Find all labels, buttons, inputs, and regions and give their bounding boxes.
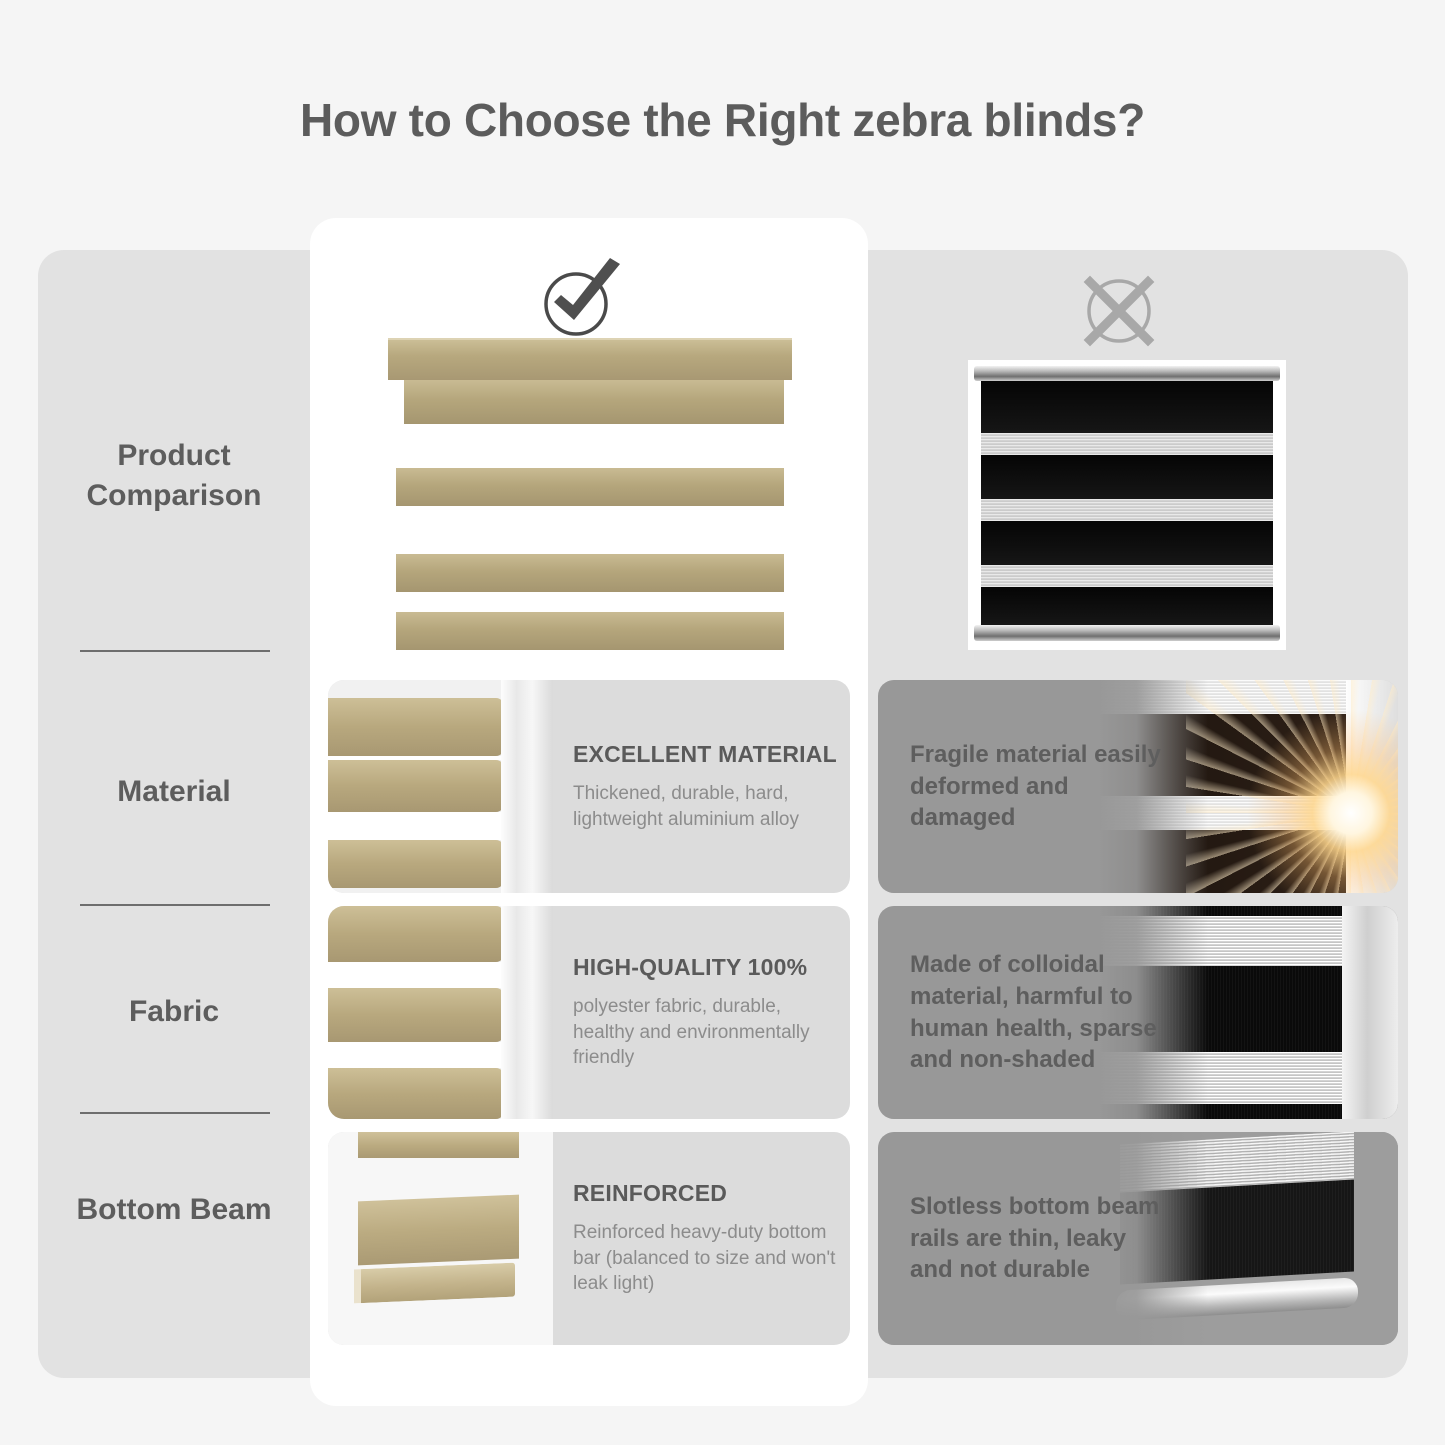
beige-zebra-blind-product-image (388, 338, 792, 668)
row-label-material: Material (38, 772, 310, 812)
good-column: EXCELLENT MATERIAL Thickened, durable, h… (310, 218, 868, 1406)
page-title: How to Choose the Right zebra blinds? (0, 93, 1445, 147)
black-zebra-blind-product-image (968, 360, 1286, 650)
row-label-bottom-beam: Bottom Beam (38, 1190, 310, 1230)
feature-card-fabric: HIGH-QUALITY 100% polyester fabric, dura… (328, 906, 850, 1119)
row-divider (80, 650, 270, 652)
check-circle-icon (538, 256, 628, 342)
feature-heading: REINFORCED (573, 1180, 843, 1207)
row-divider (80, 1112, 270, 1114)
feature-heading: EXCELLENT MATERIAL (573, 741, 843, 768)
feature-body: Reinforced heavy-duty bottom bar (balanc… (573, 1220, 843, 1297)
row-divider (80, 904, 270, 906)
row-label-product-comparison: Product Comparison (38, 436, 310, 516)
feature-card-bottom-beam: REINFORCED Reinforced heavy-duty bottom … (328, 1132, 850, 1345)
beige-blind-bottom-beam-closeup-image (328, 1132, 553, 1345)
feature-body: polyester fabric, durable, healthy and e… (573, 994, 843, 1071)
row-label-column: Product Comparison Material Fabric Botto… (38, 250, 310, 1378)
feature-heading: HIGH-QUALITY 100% (573, 954, 843, 981)
drawback-card-fabric: Made of colloidal material, harmful to h… (878, 906, 1398, 1119)
drawback-card-material: Fragile material easily deformed and dam… (878, 680, 1398, 893)
bad-column: Fragile material easily deformed and dam… (868, 250, 1408, 1378)
row-label-fabric: Fabric (38, 992, 310, 1032)
feature-card-material: EXCELLENT MATERIAL Thickened, durable, h… (328, 680, 850, 893)
drawback-card-bottom-beam: Slotless bottom beam rails are thin, lea… (878, 1132, 1398, 1345)
feature-body: Thickened, durable, hard, lightweight al… (573, 781, 843, 833)
beige-blind-fabric-closeup-image (328, 906, 553, 1119)
drawback-text: Made of colloidal material, harmful to h… (910, 906, 1175, 1119)
drawback-text: Fragile material easily deformed and dam… (910, 680, 1175, 893)
cross-circle-icon (1080, 272, 1158, 350)
drawback-text: Slotless bottom beam rails are thin, lea… (910, 1132, 1175, 1345)
beige-blind-window-frame-closeup-image (328, 680, 553, 893)
